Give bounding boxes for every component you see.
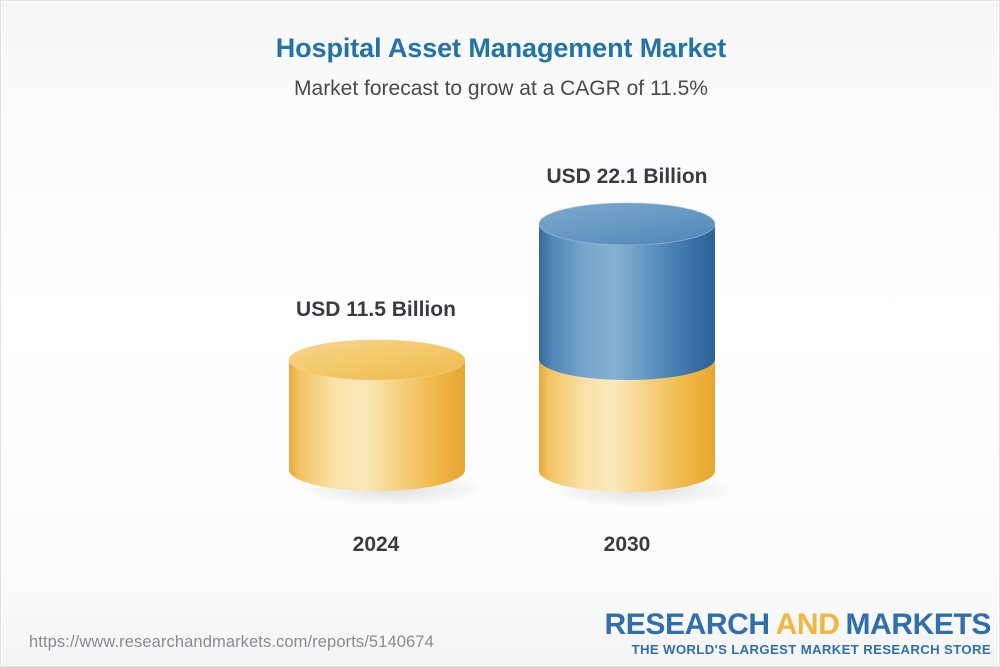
bar-category-label-2030: 2030 <box>497 533 757 557</box>
logo-wordmark: RESEARCHANDMARKETS <box>605 609 991 641</box>
logo-tagline: THE WORLD'S LARGEST MARKET RESEARCH STOR… <box>605 642 991 658</box>
bar-cylinder-2030 <box>538 202 733 520</box>
chart-plot-area: USD 11.5 Billion <box>1 1 1000 601</box>
logo-word-markets: MARKETS <box>845 608 991 641</box>
logo-word-and: AND <box>776 608 840 641</box>
chart-footer: https://www.researchandmarkets.com/repor… <box>1 596 1000 666</box>
research-and-markets-logo: RESEARCHANDMARKETS THE WORLD'S LARGEST M… <box>605 609 991 658</box>
bar-value-label-2030: USD 22.1 Billion <box>497 165 757 189</box>
bar-value-label-2024: USD 11.5 Billion <box>246 298 506 322</box>
chart-image: Hospital Asset Management Market Market … <box>0 0 1000 667</box>
source-url[interactable]: https://www.researchandmarkets.com/repor… <box>29 633 434 652</box>
bar-category-label-2024: 2024 <box>246 533 506 557</box>
logo-word-research: RESEARCH <box>605 608 770 641</box>
bar-cylinder-2024 <box>288 339 483 519</box>
